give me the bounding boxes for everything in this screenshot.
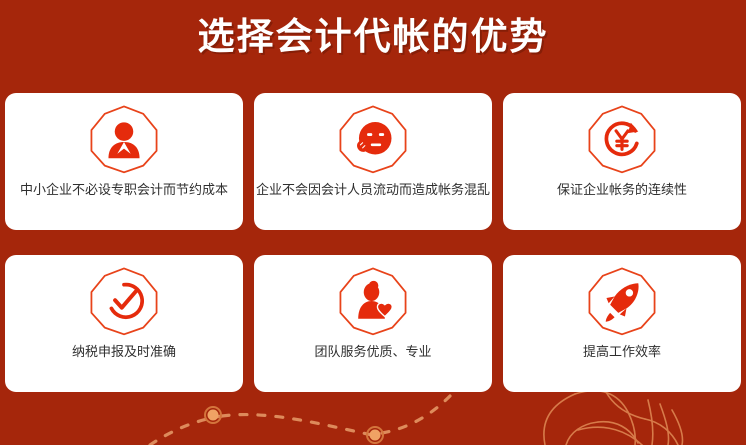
advantage-card[interactable]: 提高工作效率 (503, 255, 741, 392)
advantage-card-grid: 中小企业不必设专职会计而节约成本 企业不会因会计人员流动而造成帐务混乱 (5, 93, 741, 392)
advantage-card[interactable]: 企业不会因会计人员流动而造成帐务混乱 (254, 93, 492, 230)
advantage-card-label: 团队服务优质、专业 (306, 344, 439, 361)
advantage-card[interactable]: 团队服务优质、专业 (254, 255, 492, 392)
advantage-card-label: 纳税申报及时准确 (64, 344, 184, 361)
abstract-line-art (544, 391, 683, 445)
page-title-wrap: 选择会计代帐的优势 (0, 14, 746, 60)
trail-node (367, 427, 383, 443)
advantage-card-label: 中小企业不必设专职会计而节约成本 (12, 182, 236, 199)
advantage-card[interactable]: 中小企业不必设专职会计而节约成本 (5, 93, 243, 230)
promo-banner: 选择会计代帐的优势 中小企业不必设专职会计而节约成本 (0, 0, 746, 445)
yuan-refresh-icon (585, 102, 659, 176)
advantage-card[interactable]: 纳税申报及时准确 (5, 255, 243, 392)
trail-node (205, 407, 221, 423)
advantage-card-label: 保证企业帐务的连续性 (549, 182, 695, 199)
smiley-face-icon (336, 102, 410, 176)
rocket-icon (585, 264, 659, 338)
person-heart-icon (336, 264, 410, 338)
dashed-path (150, 396, 450, 445)
advantage-card-label: 提高工作效率 (575, 344, 669, 361)
advantage-card[interactable]: 保证企业帐务的连续性 (503, 93, 741, 230)
advantage-card-label: 企业不会因会计人员流动而造成帐务混乱 (254, 182, 492, 199)
page-title: 选择会计代帐的优势 (198, 14, 549, 60)
check-circle-icon (87, 264, 161, 338)
person-icon (87, 102, 161, 176)
